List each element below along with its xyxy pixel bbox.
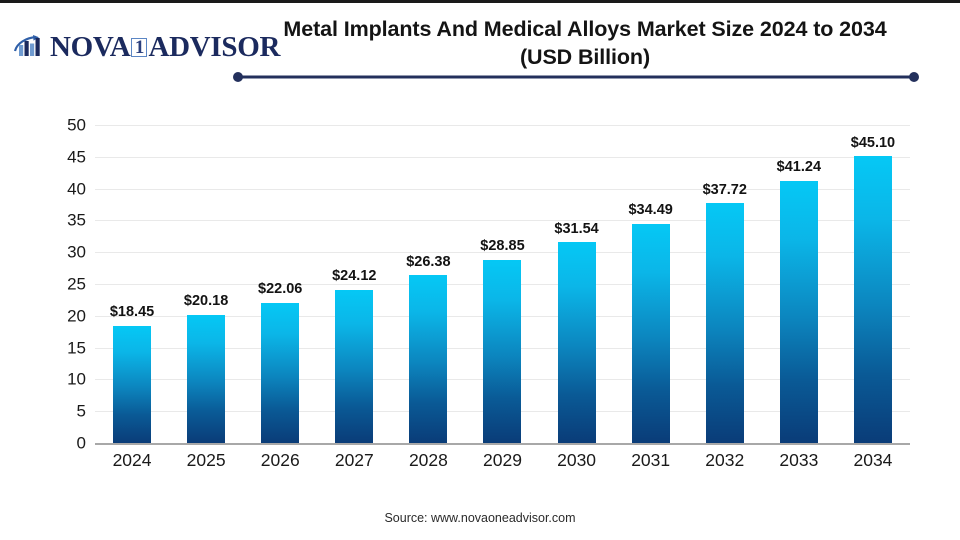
x-axis-tick-label: 2034	[853, 452, 892, 470]
x-axis-tick-label: 2029	[483, 452, 522, 470]
bar-value-label: $22.06	[258, 282, 302, 297]
bar[interactable]	[187, 315, 225, 443]
x-axis-tick-label: 2031	[631, 452, 670, 470]
bar-chart: 05101520253035404550 $18.45$20.18$22.06$…	[0, 107, 960, 487]
y-axis-tick-label: 0	[77, 435, 86, 452]
chart-page: NOVA 1 ADVISOR Metal Implants And Medica…	[0, 0, 960, 540]
bar-value-label: $28.85	[480, 239, 524, 254]
x-axis-tick-label: 2026	[261, 452, 300, 470]
y-axis-tick-label: 45	[67, 148, 86, 165]
bar-value-label: $26.38	[406, 255, 450, 270]
bar[interactable]	[483, 260, 521, 443]
bar-value-label: $20.18	[184, 294, 228, 309]
bar[interactable]	[780, 181, 818, 443]
y-axis-tick-label: 10	[67, 371, 86, 388]
bar-slot: $18.45	[95, 125, 169, 445]
bars-group: $18.45$20.18$22.06$24.12$26.38$28.85$31.…	[95, 125, 910, 445]
bar-slot: $20.18	[169, 125, 243, 445]
bar[interactable]	[632, 224, 670, 443]
y-axis: 05101520253035404550	[40, 125, 86, 443]
bar-value-label: $24.12	[332, 269, 376, 284]
y-axis-tick-label: 50	[67, 117, 86, 134]
y-axis-tick-label: 35	[67, 212, 86, 229]
bar-slot: $45.10	[836, 125, 910, 445]
x-axis-tick-label: 2030	[557, 452, 596, 470]
logo-text-nova: NOVA	[50, 33, 130, 62]
bar-slot: $37.72	[688, 125, 762, 445]
x-axis-tick-label: 2025	[187, 452, 226, 470]
bar[interactable]	[854, 156, 892, 443]
y-axis-tick-label: 30	[67, 244, 86, 261]
y-axis-tick-label: 5	[77, 403, 86, 420]
x-axis-tick-label: 2028	[409, 452, 448, 470]
brand-logo-text: NOVA 1 ADVISOR	[50, 33, 280, 62]
bar[interactable]	[409, 275, 447, 443]
bar-slot: $22.06	[243, 125, 317, 445]
brand-logo: NOVA 1 ADVISOR	[14, 29, 280, 65]
bar[interactable]	[261, 303, 299, 443]
bar-slot: $31.54	[540, 125, 614, 445]
bar-slot: $24.12	[317, 125, 391, 445]
bar-slot: $34.49	[614, 125, 688, 445]
x-axis-tick-label: 2024	[113, 452, 152, 470]
bar-slot: $41.24	[762, 125, 836, 445]
bar[interactable]	[706, 203, 744, 443]
y-axis-tick-label: 20	[67, 307, 86, 324]
x-axis-tick-label: 2033	[779, 452, 818, 470]
title-divider	[232, 71, 920, 83]
y-axis-tick-label: 25	[67, 276, 86, 293]
y-axis-tick-label: 40	[67, 180, 86, 197]
y-axis-tick-label: 15	[67, 339, 86, 356]
x-axis-tick-label: 2027	[335, 452, 374, 470]
bar-value-label: $34.49	[628, 203, 672, 218]
bar[interactable]	[113, 326, 151, 443]
chart-title: Metal Implants And Medical Alloys Market…	[255, 15, 915, 72]
bar-value-label: $18.45	[110, 305, 154, 320]
bar[interactable]	[558, 242, 596, 443]
bar[interactable]	[335, 290, 373, 443]
bar-slot: $26.38	[391, 125, 465, 445]
logo-badge-one: 1	[131, 38, 147, 57]
bar-chart-logo-icon	[14, 34, 48, 60]
x-axis-tick-label: 2032	[705, 452, 744, 470]
bar-slot: $28.85	[465, 125, 539, 445]
source-note: Source: www.novaoneadvisor.com	[0, 511, 960, 525]
bar-value-label: $41.24	[777, 160, 821, 175]
bar-value-label: $31.54	[554, 222, 598, 237]
bar-value-label: $37.72	[703, 183, 747, 198]
x-axis: 2024202520262027202820292030203120322033…	[95, 452, 910, 480]
bar-value-label: $45.10	[851, 136, 895, 151]
